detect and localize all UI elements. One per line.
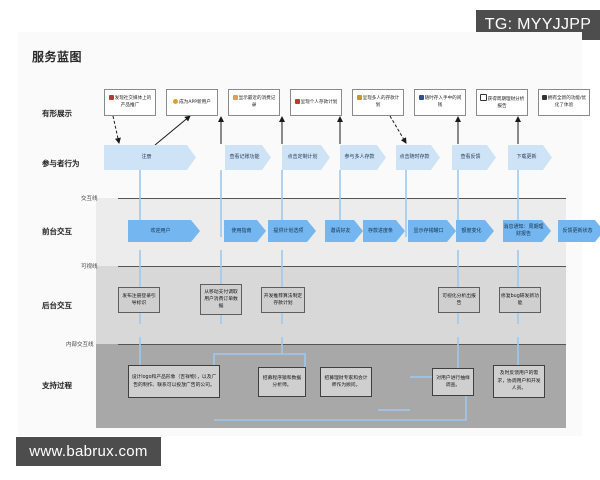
evidence-box[interactable]: 获得周期理财分析报告: [476, 89, 528, 116]
backstage-box[interactable]: 发布注册登录引导标识: [118, 287, 160, 313]
frontstage-chevron[interactable]: 反馈更新状态: [558, 220, 600, 242]
backstage-box[interactable]: 从移动支付调取用户消费订单数据: [200, 284, 242, 315]
support-label: 招募程序猿和数据分析师。: [261, 375, 303, 390]
backstage-label: 可视化分析出报告: [440, 293, 478, 307]
internal-interaction-line-label: 内部交互线: [66, 340, 94, 348]
report-icon: [480, 94, 487, 101]
backstage-label: 开发推荐算法制定存款计划: [263, 293, 303, 307]
frontstage-label: 显示存钱罐口: [413, 228, 443, 235]
coin-icon: [173, 99, 178, 104]
evidence-box[interactable]: 呈现多人的存款计划: [352, 89, 404, 116]
frontstage-label: 存款进度条: [368, 228, 393, 235]
evidence-text: 成为APP新用户: [173, 99, 211, 107]
frontstage-chevron[interactable]: 提供计划选项: [268, 220, 316, 242]
backstage-box[interactable]: 修复bug研发新功能: [499, 287, 541, 313]
evidence-box[interactable]: 成为APP新用户: [166, 89, 218, 116]
frontstage-chevron[interactable]: 消息通知：周期理财报告: [503, 220, 551, 242]
support-label: 对用户进行抽样调查。: [435, 375, 471, 390]
band-backstage: [96, 266, 566, 344]
frontstage-label: 反馈更新状态: [562, 228, 592, 235]
interaction-line-label: 交互线: [81, 194, 98, 202]
actor-behavior-label: 注册: [141, 154, 151, 161]
actor-behavior-chevron[interactable]: 注册: [104, 145, 196, 170]
site-watermark-badge: www.babrux.com: [16, 437, 161, 466]
evidence-text: 呈现个人存款计划: [295, 99, 338, 107]
frontstage-chevron[interactable]: 欢迎用户: [128, 220, 200, 242]
evidence-text: 显示最近的消费记录: [231, 95, 277, 110]
evidence-text: 呈现多人的存款计划: [355, 95, 401, 110]
actor-behavior-label: 下载更新: [516, 154, 536, 161]
support-box[interactable]: 对用户进行抽样调查。: [432, 368, 474, 396]
backstage-label: 发布注册登录引导标识: [120, 293, 158, 307]
visibility-line: [118, 266, 566, 267]
note-icon: [233, 95, 238, 100]
support-box[interactable]: 招募理财专家和会计师作为顾问。: [320, 367, 372, 397]
frontstage-label: 消息通知：周期理财报告: [503, 224, 544, 238]
service-blueprint-card: 服务蓝图 交互线 可视线 内部交互线 有形展示 参与者行为 前台交互 后台交互 …: [18, 32, 582, 436]
actor-behavior-label: 点击定制计划: [287, 154, 317, 161]
frontstage-label: 邀请好友: [330, 228, 350, 235]
evidence-box[interactable]: 显示最近的消费记录: [228, 89, 280, 116]
support-box[interactable]: 及时反馈用户的需求，协调用户和开发人员。: [493, 365, 545, 398]
support-box[interactable]: 招募程序猿和数据分析师。: [258, 367, 306, 397]
actor-behavior-label: 点击随时存款: [399, 154, 429, 161]
evidence-box[interactable]: 发现社交媒体上的产品推广: [104, 89, 156, 116]
frontstage-label: 欢迎用户: [150, 228, 170, 235]
actor-behavior-chevron[interactable]: 下载更新: [508, 145, 552, 170]
backstage-label: 从移动支付调取用户消费订单数据: [202, 289, 240, 311]
row-label-backstage: 后台交互: [42, 300, 72, 311]
actor-behavior-chevron[interactable]: 查看记账功能: [225, 145, 271, 170]
row-label-support: 支持过程: [42, 380, 72, 391]
actor-behavior-label: 查看反馈: [460, 154, 480, 161]
pencil-icon: [542, 95, 547, 100]
frontstage-label: 提供计划选项: [273, 228, 303, 235]
evidence-text: 拥有全新的功能/优化了体验: [541, 95, 587, 110]
actor-behavior-chevron[interactable]: 点击定制计划: [282, 145, 330, 170]
support-label: 及时反馈用户的需求，协调用户和开发人员。: [496, 370, 542, 392]
backstage-box[interactable]: 可视化分析出报告: [438, 287, 480, 313]
frontstage-label: 使用指南: [231, 228, 251, 235]
row-label-frontstage: 前台交互: [42, 226, 72, 237]
interaction-line: [118, 198, 566, 199]
evidence-text: 随时存入手中的闲钱: [417, 95, 463, 110]
evidence-box[interactable]: 拥有全新的功能/优化了体验: [538, 89, 590, 116]
evidence-text: 发现社交媒体上的产品推广: [107, 95, 153, 110]
support-box[interactable]: 设计logo和产品形象（吉祥物），以及广告的制作、联系可以投放广告的公司。: [128, 365, 220, 398]
actor-behavior-chevron[interactable]: 点击随时存款: [396, 145, 440, 170]
row-label-actor: 参与者行为: [42, 158, 80, 169]
support-label: 招募理财专家和会计师作为顾问。: [323, 375, 369, 390]
row-label-evidence: 有形展示: [42, 108, 72, 119]
visibility-line-label: 可视线: [81, 262, 98, 270]
actor-behavior-chevron[interactable]: 参与多人存款: [340, 145, 386, 170]
backstage-label: 修复bug研发新功能: [501, 293, 539, 307]
internal-interaction-line: [118, 344, 566, 345]
megaphone-icon: [109, 95, 114, 100]
calendar-icon: [295, 99, 300, 104]
actor-behavior-label: 参与多人存款: [344, 154, 374, 161]
actor-behavior-label: 查看记账功能: [229, 154, 259, 161]
chart-icon: [419, 95, 424, 100]
backstage-box[interactable]: 开发推荐算法制定存款计划: [261, 287, 305, 313]
lock-icon: [357, 95, 362, 100]
blueprint-canvas: 交互线 可视线 内部交互线 有形展示 参与者行为 前台交互 后台交互 支持过程: [18, 32, 582, 436]
frontstage-chevron[interactable]: 显示存钱罐口: [408, 220, 456, 242]
frontstage-label: 额度变化: [461, 228, 481, 235]
support-label: 设计logo和产品形象（吉祥物），以及广告的制作、联系可以投放广告的公司。: [131, 374, 217, 389]
evidence-box[interactable]: 呈现个人存款计划: [290, 89, 342, 116]
evidence-text: 获得周期理财分析报告: [479, 94, 525, 111]
evidence-box[interactable]: 随时存入手中的闲钱: [414, 89, 466, 116]
actor-behavior-chevron[interactable]: 查看反馈: [452, 145, 496, 170]
